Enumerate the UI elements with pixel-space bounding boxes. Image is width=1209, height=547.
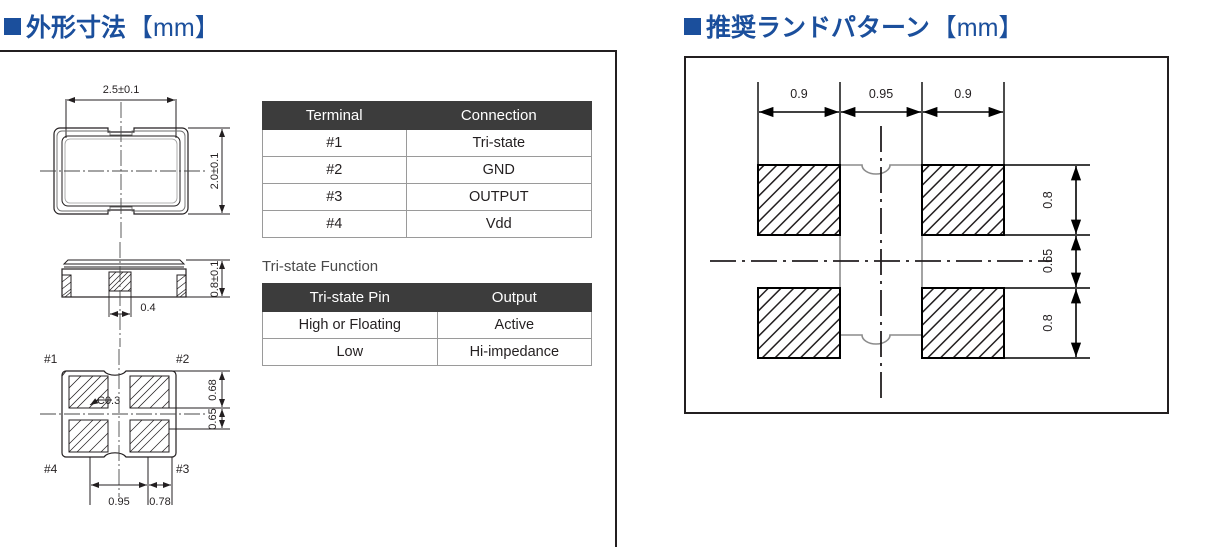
land-dim-h2: 0.95 bbox=[869, 87, 893, 101]
table-row: #4 Vdd bbox=[263, 211, 592, 238]
bottom-view-dim-068: 0.68 bbox=[207, 379, 219, 400]
table-row: #3 OUTPUT bbox=[263, 184, 592, 211]
table-header-row: Tri-state Pin Output bbox=[263, 284, 592, 312]
cell-connection: Vdd bbox=[406, 211, 591, 238]
land-pattern-unit: 【mm】 bbox=[932, 8, 1024, 44]
cell-connection: GND bbox=[406, 157, 591, 184]
land-pattern-drawing: 0.9 0.95 0.9 0.8 0.65 0.8 bbox=[690, 60, 1164, 410]
tristate-function-table: Tri-state Pin Output High or Floating Ac… bbox=[262, 283, 592, 366]
col-connection: Connection bbox=[406, 102, 591, 130]
cell-terminal: #1 bbox=[263, 130, 407, 157]
land-pad-top-left bbox=[758, 165, 840, 235]
cell-connection: Tri-state bbox=[406, 130, 591, 157]
outline-title: 外形寸法 bbox=[26, 8, 126, 44]
land-dim-v3: 0.8 bbox=[1041, 314, 1055, 331]
col-tristate-pin: Tri-state Pin bbox=[263, 284, 438, 312]
cell-connection: OUTPUT bbox=[406, 184, 591, 211]
table-row: High or Floating Active bbox=[263, 312, 592, 339]
land-dim-v2: 0.65 bbox=[1041, 249, 1055, 273]
bottom-view-dim-095: 0.95 bbox=[108, 496, 129, 508]
land-dim-h1: 0.9 bbox=[790, 87, 807, 101]
land-pattern-title: 推奨ランドパターン bbox=[706, 8, 930, 44]
square-marker-icon bbox=[684, 18, 701, 35]
table-header-row: Terminal Connection bbox=[263, 102, 592, 130]
chamfer-callout: C0.3 bbox=[97, 395, 120, 407]
land-dim-v1: 0.8 bbox=[1041, 191, 1055, 208]
bottom-view-dim-078: 0.78 bbox=[149, 496, 170, 508]
cell-terminal: #3 bbox=[263, 184, 407, 211]
side-view-drawing: 0.4 0.8±0.1 bbox=[30, 242, 260, 347]
section-header-land-pattern: 推奨ランドパターン 【mm】 bbox=[684, 8, 1023, 44]
cell-terminal: #2 bbox=[263, 157, 407, 184]
col-terminal: Terminal bbox=[263, 102, 407, 130]
cell-pin: High or Floating bbox=[263, 312, 438, 339]
col-output: Output bbox=[437, 284, 591, 312]
land-pad-bottom-right bbox=[922, 288, 1004, 358]
outline-unit: 【mm】 bbox=[128, 8, 220, 44]
cell-output: Hi-impedance bbox=[437, 339, 591, 366]
land-pad-bottom-left bbox=[758, 288, 840, 358]
pin-label-1: #1 bbox=[44, 352, 58, 366]
land-pad-top-right bbox=[922, 165, 1004, 235]
pin-label-2: #2 bbox=[176, 352, 190, 366]
side-view-pad-dim: 0.4 bbox=[140, 302, 155, 314]
top-view-drawing: 2.5±0.1 2.0±0.1 bbox=[30, 80, 260, 240]
section-header-outline: 外形寸法 【mm】 bbox=[4, 8, 220, 44]
cell-output: Active bbox=[437, 312, 591, 339]
tristate-function-caption: Tri-state Function bbox=[262, 258, 378, 275]
cell-pin: Low bbox=[263, 339, 438, 366]
top-view-height-dim: 2.0±0.1 bbox=[209, 153, 221, 190]
side-view-height-dim: 0.8±0.1 bbox=[209, 261, 221, 298]
terminal-connection-table: Terminal Connection #1 Tri-state #2 GND … bbox=[262, 101, 592, 238]
table-row: #2 GND bbox=[263, 157, 592, 184]
cell-terminal: #4 bbox=[263, 211, 407, 238]
table-row: #1 Tri-state bbox=[263, 130, 592, 157]
table-row: Low Hi-impedance bbox=[263, 339, 592, 366]
top-view-width-dim: 2.5±0.1 bbox=[103, 84, 140, 96]
square-marker-icon bbox=[4, 18, 21, 35]
pin-label-4: #4 bbox=[44, 462, 58, 476]
bottom-view-dim-065: 0.65 bbox=[207, 408, 219, 429]
pin-label-3: #3 bbox=[176, 462, 190, 476]
bottom-view-drawing: #1 #2 #3 #4 C0.3 0.68 0.65 bbox=[30, 345, 260, 520]
land-dim-h3: 0.9 bbox=[954, 87, 971, 101]
